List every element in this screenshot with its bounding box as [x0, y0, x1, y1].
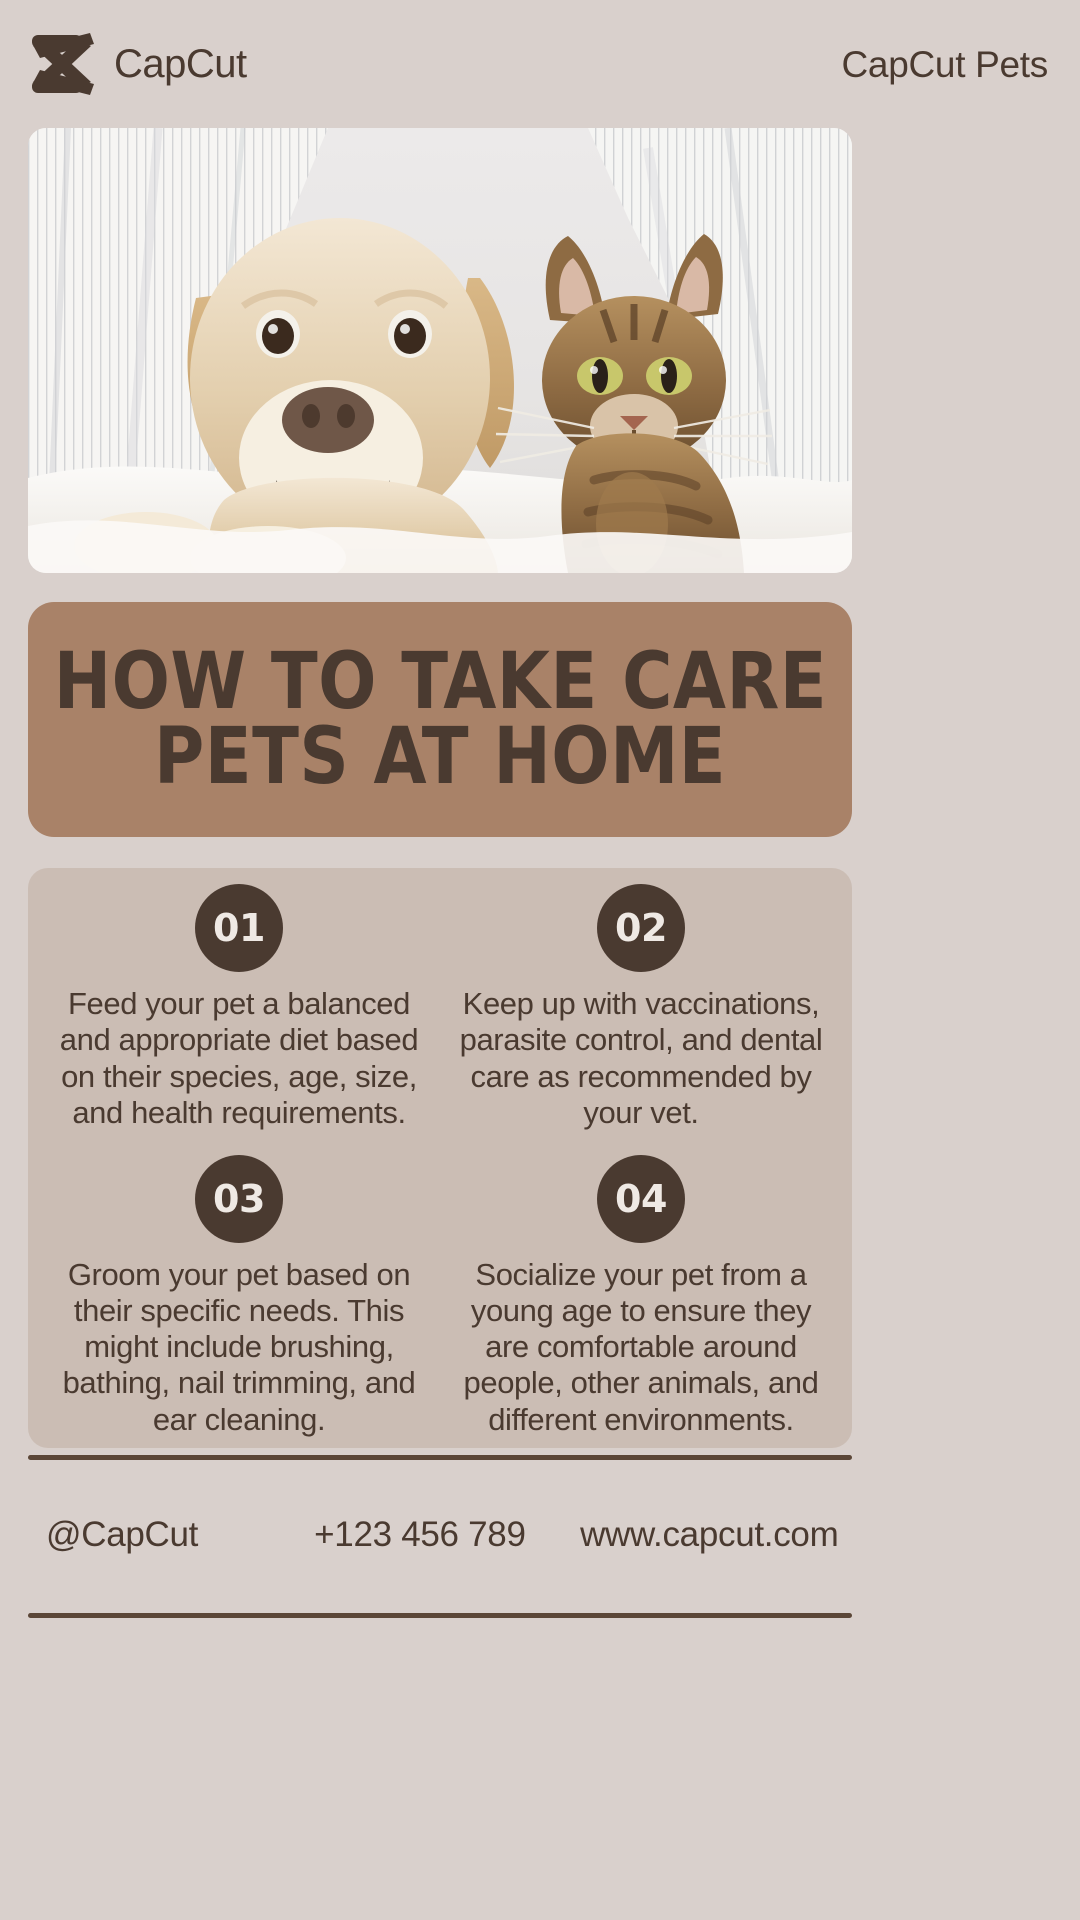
- step-badge-01: 01: [195, 884, 283, 972]
- hero-photo-dog-and-cat: [28, 128, 852, 573]
- footer-website[interactable]: www.capcut.com: [580, 1517, 852, 1552]
- header-tagline: CapCut Pets: [842, 46, 1048, 83]
- footer: @CapCut +123 456 789 www.capcut.com: [28, 1455, 852, 1613]
- step-badge-02: 02: [597, 884, 685, 972]
- step-text-03: Groom your pet based on their specific n…: [52, 1257, 426, 1438]
- step-number-03: 03: [213, 1180, 265, 1218]
- header: CapCut CapCut Pets: [0, 0, 1080, 128]
- step-text-02: Keep up with vaccinations, parasite cont…: [454, 986, 828, 1131]
- footer-handle[interactable]: @CapCut: [28, 1517, 308, 1552]
- step-badge-03: 03: [195, 1155, 283, 1243]
- footer-phone[interactable]: +123 456 789: [308, 1517, 580, 1552]
- title-banner: HOW TO TAKE CARE PETS AT HOME: [28, 602, 852, 837]
- step-text-01: Feed your pet a balanced and appropriate…: [52, 986, 426, 1131]
- step-number-04: 04: [615, 1180, 667, 1218]
- step-badge-04: 04: [597, 1155, 685, 1243]
- step-item-03: 03 Groom your pet based on their specifi…: [38, 1155, 440, 1438]
- footer-divider-bottom: [28, 1613, 852, 1618]
- step-text-04: Socialize your pet from a young age to e…: [454, 1257, 828, 1438]
- brand: CapCut: [28, 33, 247, 95]
- step-item-02: 02 Keep up with vaccinations, parasite c…: [440, 884, 842, 1155]
- steps-card: 01 Feed your pet a balanced and appropri…: [28, 868, 852, 1448]
- title-line-1: HOW TO TAKE CARE: [53, 645, 826, 720]
- step-number-01: 01: [213, 909, 265, 947]
- brand-name: CapCut: [114, 44, 247, 84]
- infographic-poster: CapCut CapCut Pets: [0, 0, 1080, 1920]
- step-number-02: 02: [615, 909, 667, 947]
- title-line-2: PETS AT HOME: [154, 720, 726, 795]
- step-item-01: 01 Feed your pet a balanced and appropri…: [38, 884, 440, 1155]
- step-item-04: 04 Socialize your pet from a young age t…: [440, 1155, 842, 1438]
- capcut-logo-icon: [28, 33, 96, 95]
